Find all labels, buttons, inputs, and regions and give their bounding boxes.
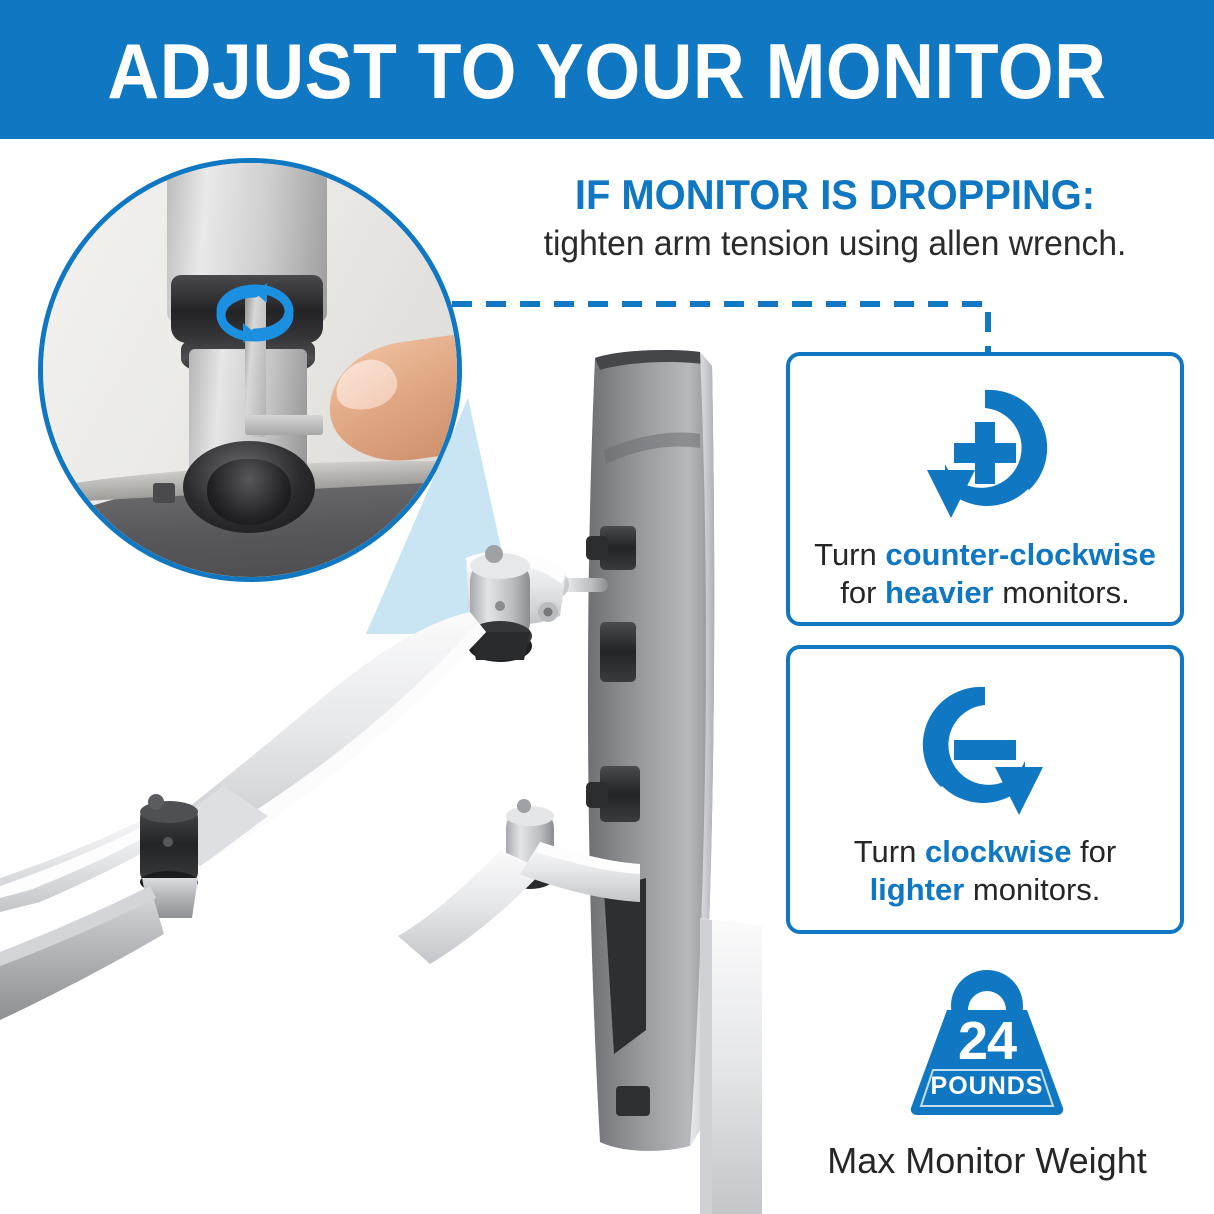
arm-lower-joint [398,799,640,964]
weight-caption: Max Monitor Weight [826,1140,1148,1182]
page-title: ADJUST TO YOUR MONITOR [108,32,1107,110]
callout-heavier-line1-bold: counter-clockwise [885,537,1155,572]
callout-lighter[interactable]: Turn clockwise for lighter monitors. [786,645,1184,934]
arm-secondary-segment [0,806,188,912]
magnified-detail-inset [38,158,462,582]
callout-heavier[interactable]: Turn counter-clockwise for heavier monit… [786,352,1184,626]
subheading-subtitle: tighten arm tension using allen wrench. [477,223,1193,264]
callout-heavier-line2-pre: for [840,575,885,610]
photo-screw-detail [153,483,175,503]
magnifier-circle-frame [38,158,462,582]
arm-left-pivot [140,794,198,918]
rotation-arrow-overlay-icon [203,271,307,355]
arm-tilt-head [466,550,608,624]
weight-badge-icon: 24 POUNDS [903,966,1071,1118]
allen-wrench-short-arm [245,415,323,435]
monitor-body [586,350,762,1214]
max-weight-block: 24 POUNDS Max Monitor Weight [826,966,1148,1182]
callout-lighter-line1-bold: clockwise [925,834,1071,869]
arm-base-extension [0,886,164,1020]
header-banner: ADJUST TO YOUR MONITOR [0,0,1214,139]
infographic-page: ADJUST TO YOUR MONITOR IF MONITOR IS DRO… [0,0,1214,1214]
callout-heavier-line2-post: monitors. [994,575,1130,610]
weight-unit: POUNDS [903,1074,1071,1099]
callout-heavier-text: Turn counter-clockwise for heavier monit… [798,536,1172,612]
photo-arm-socket-inner [207,459,291,525]
arm-primary-segment [150,612,486,866]
callout-lighter-line1-post: for [1071,834,1116,869]
arm-upper-joint [468,545,532,662]
subheading-title: IF MONITOR IS DROPPING: [481,172,1190,217]
callout-lighter-line2-post: monitors. [964,872,1100,907]
callout-lighter-line1-pre: Turn [854,834,925,869]
callout-lighter-line2-bold: lighter [870,872,965,907]
rotate-counter-clockwise-plus-icon [911,378,1059,526]
rotate-clockwise-minus-icon [911,675,1059,823]
callout-heavier-line2-bold: heavier [885,575,994,610]
weight-value: 24 [903,1014,1071,1068]
callout-heavier-line1-pre: Turn [814,537,885,572]
callout-lighter-text: Turn clockwise for lighter monitors. [838,833,1132,909]
subheading-block: IF MONITOR IS DROPPING: tighten arm tens… [462,172,1208,265]
